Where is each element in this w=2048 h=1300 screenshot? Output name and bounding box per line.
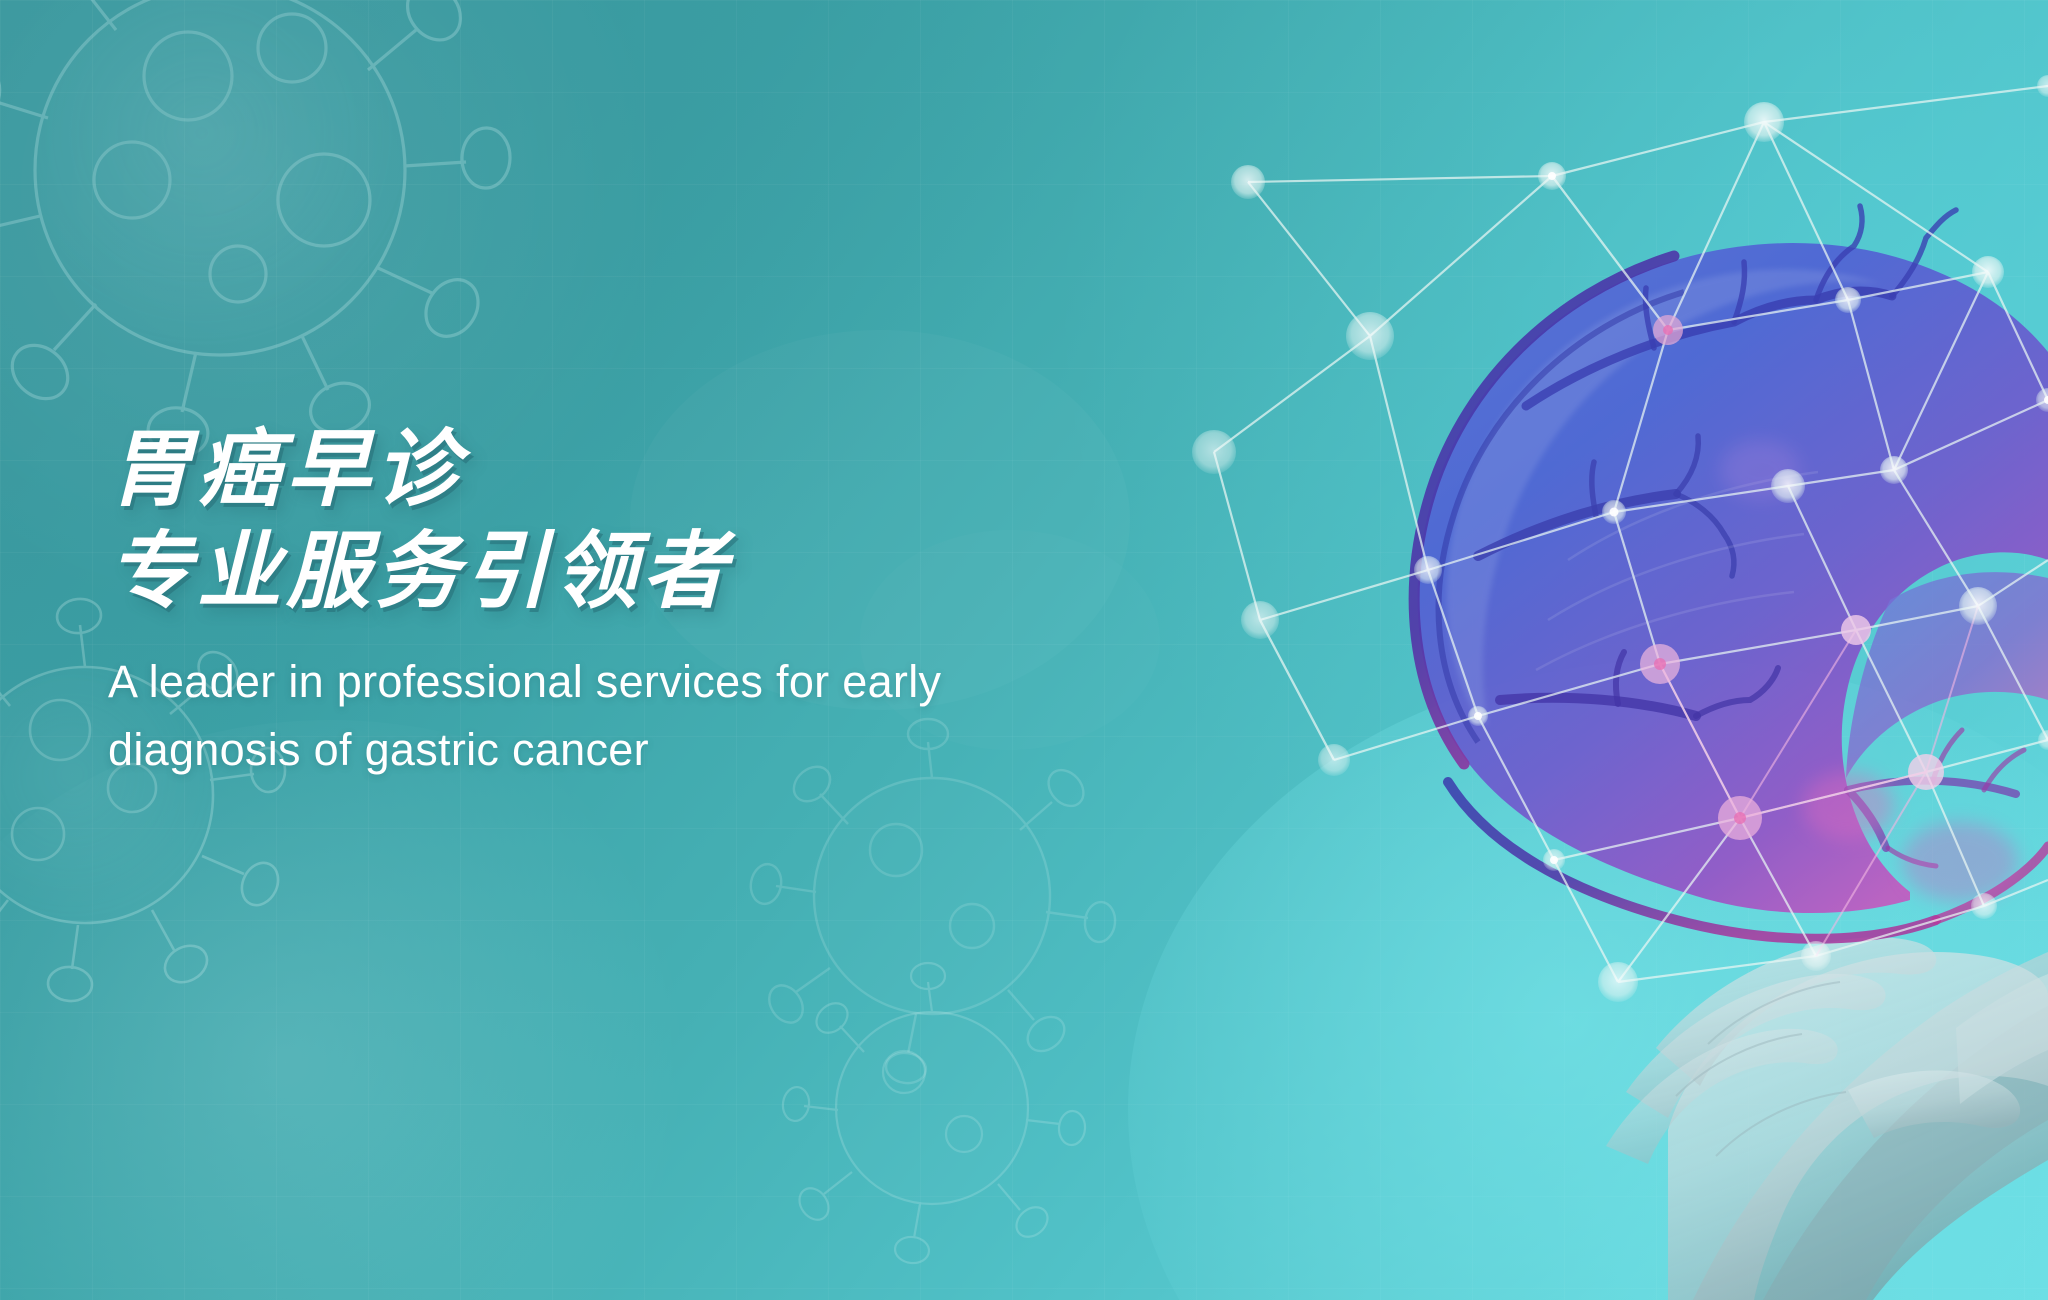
hero-copy: 胃癌早诊 专业服务引领者 A leader in professional se…: [108, 418, 1128, 784]
bottom-right-glow: [1128, 660, 2048, 1300]
stomach-network-hand-graphic: [1148, 0, 2048, 1300]
network-mesh-overlay: [1192, 75, 2048, 1002]
bottom-left-haze: [0, 720, 780, 1300]
open-hand-illustration: [1606, 937, 2048, 1300]
headline-cn-line-2: 专业服务引领者: [108, 520, 1128, 622]
virus-cell-background-bottom: [760, 940, 1100, 1270]
subheadline-en: A leader in professional services for ea…: [108, 648, 1128, 784]
hero-banner: 胃癌早诊 专业服务引领者 A leader in professional se…: [0, 0, 2048, 1300]
headline-cn-line-1: 胃癌早诊: [108, 418, 1128, 520]
subheadline-en-line-2: diagnosis of gastric cancer: [108, 716, 1128, 784]
subheadline-en-line-1: A leader in professional services for ea…: [108, 648, 1128, 716]
stomach-illustration: [1414, 206, 2048, 939]
